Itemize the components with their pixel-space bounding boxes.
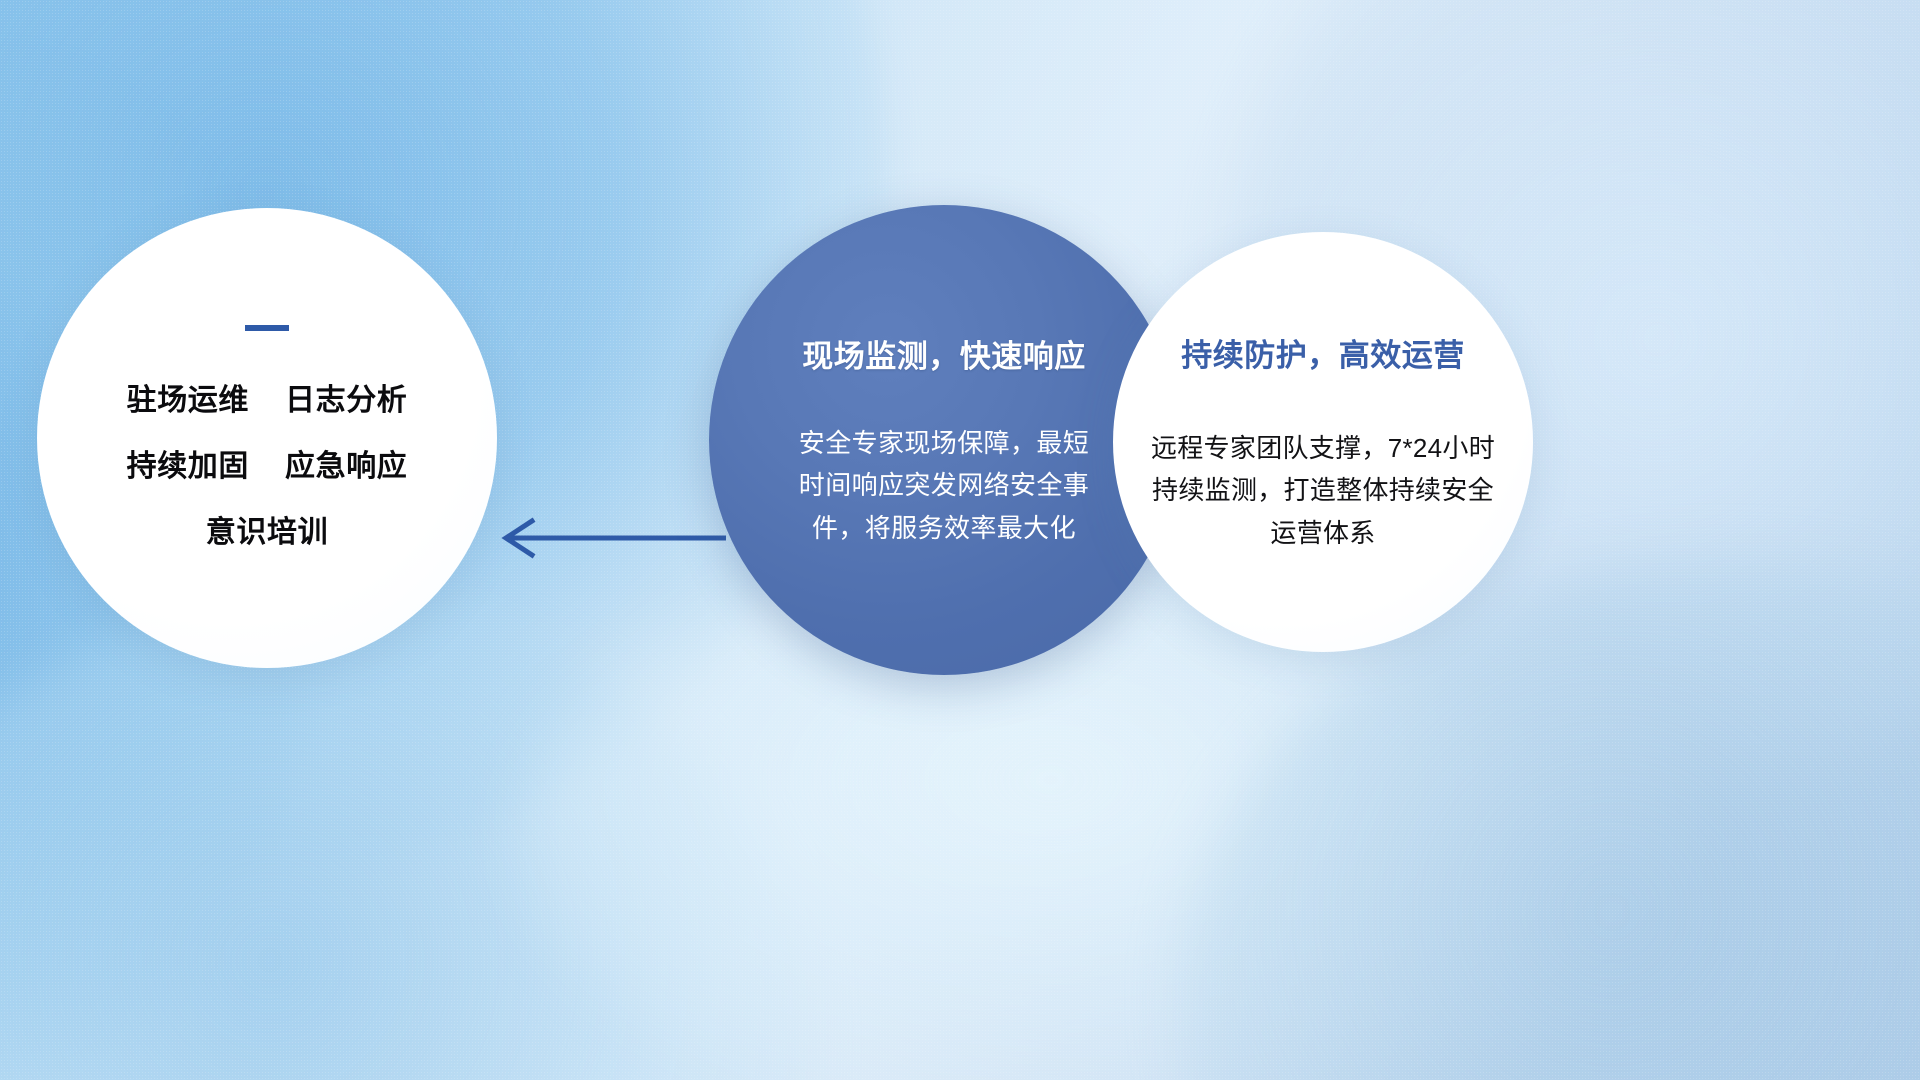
card-continuous-protection[interactable]: 持续防护，高效运营 远程专家团队支撑，7*24小时持续监测，打造整体持续安全运营…	[1113, 232, 1533, 652]
tag-row: 驻场运维 日志分析	[127, 375, 408, 419]
tag-row: 持续加固 应急响应	[127, 441, 408, 485]
capability-tag-grid: 驻场运维 日志分析 持续加固 应急响应 意识培训	[127, 375, 408, 551]
divider-dash-icon	[245, 325, 289, 331]
card-onsite-capabilities[interactable]: 驻场运维 日志分析 持续加固 应急响应 意识培训	[37, 208, 497, 668]
tag-row: 意识培训	[206, 507, 328, 551]
card-onsite-monitoring[interactable]: 现场监测，快速响应 安全专家现场保障，最短时间响应突发网络安全事件，将服务效率最…	[709, 205, 1179, 675]
card-heading: 现场监测，快速响应	[802, 331, 1086, 376]
card-body: 安全专家现场保障，最短时间响应突发网络安全事件，将服务效率最大化	[794, 422, 1094, 548]
card-heading: 持续防护，高效运营	[1181, 330, 1465, 375]
capability-tag: 应急响应	[285, 441, 407, 485]
capability-tag: 持续加固	[127, 441, 249, 485]
card-body: 远程专家团队支撑，7*24小时持续监测，打造整体持续安全运营体系	[1143, 427, 1503, 553]
capability-tag: 日志分析	[285, 375, 407, 419]
slide-canvas: 驻场运维 日志分析 持续加固 应急响应 意识培训 现场监测，快速响应 安全专家现…	[0, 0, 1920, 1080]
connector-arrow-icon	[488, 508, 728, 568]
capability-tag: 意识培训	[206, 507, 328, 551]
capability-tag: 驻场运维	[127, 375, 249, 419]
